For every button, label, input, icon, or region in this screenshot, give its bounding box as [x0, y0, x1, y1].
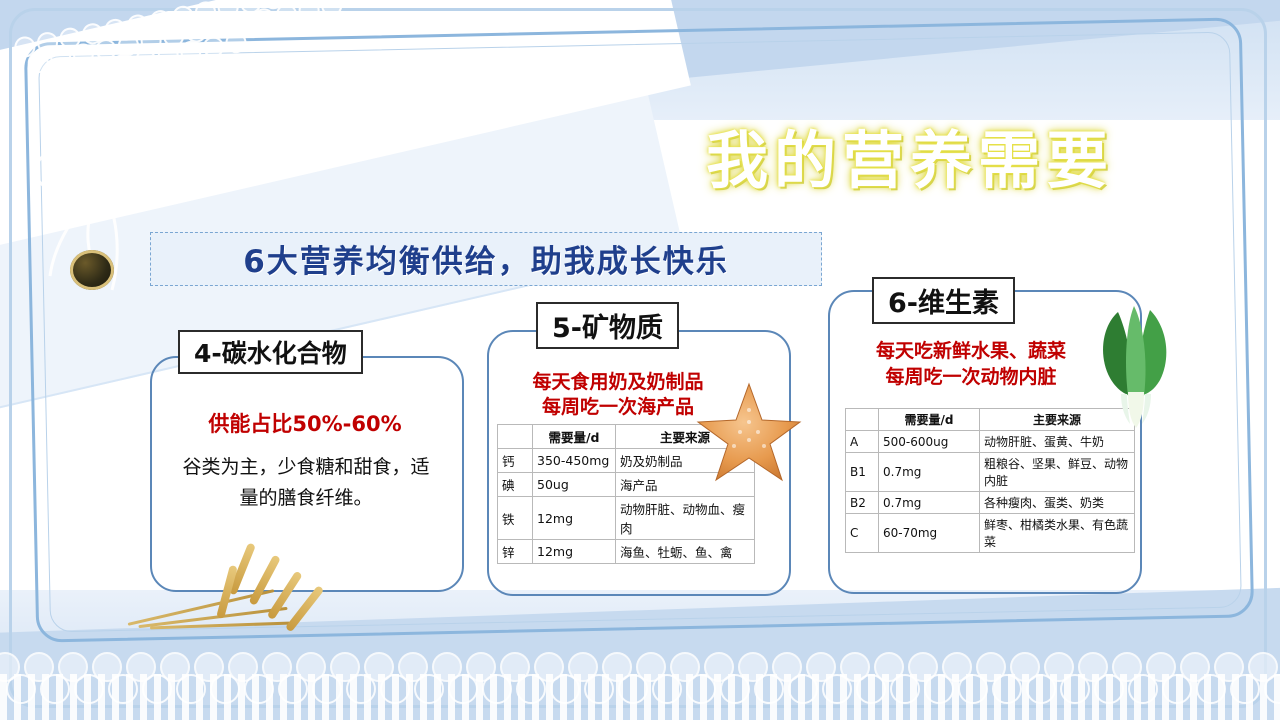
mineral-th-0 [498, 425, 533, 449]
table-row: C 60-70mg 鲜枣、柑橘类水果、有色蔬菜 [846, 514, 1135, 553]
vitamin-r3c1: 60-70mg [879, 514, 980, 553]
mineral-r2c2: 动物肝脏、动物血、瘦肉 [616, 497, 755, 540]
vitamin-th-1: 需要量/d [879, 409, 980, 431]
carbohydrate-highlight: 供能占比50%-60% [165, 408, 445, 438]
mineral-th-1: 需要量/d [533, 425, 616, 449]
seal-medallion [70, 250, 114, 290]
table-row: B2 0.7mg 各种瘦肉、蛋类、奶类 [846, 492, 1135, 514]
panel-header-mineral: 5-矿物质 [536, 302, 679, 349]
mineral-r0c1: 350-450mg [533, 449, 616, 473]
vitamin-r0c1: 500-600ug [879, 431, 980, 453]
panel-header-vitamin: 6-维生素 [872, 277, 1015, 324]
vitamin-r2c2: 各种瘦肉、蛋类、奶类 [980, 492, 1135, 514]
starfish-image [690, 380, 808, 490]
mineral-r1c0: 碘 [498, 473, 533, 497]
vitamin-r0c0: A [846, 431, 879, 453]
mineral-r2c1: 12mg [533, 497, 616, 540]
slide-canvas: 我的营养需要 6大营养均衡供给，助我成长快乐 4-碳水化合物 供能占比50%-6… [0, 0, 1280, 720]
vitamin-r0c2: 动物肝脏、蛋黄、牛奶 [980, 431, 1135, 453]
vitamin-highlight: 每天吃新鲜水果、蔬菜 每周吃一次动物内脏 [836, 338, 1106, 390]
mineral-r0c0: 钙 [498, 449, 533, 473]
vitamin-highlight-line1: 每天吃新鲜水果、蔬菜 [836, 338, 1106, 364]
wheat-ears-image [120, 520, 350, 630]
carbohydrate-body-text: 谷类为主，少食糖和甜食，适量的膳食纤维。 [176, 452, 436, 514]
vitamin-r1c1: 0.7mg [879, 453, 980, 492]
vitamin-th-0 [846, 409, 879, 431]
table-row: 铁 12mg 动物肝脏、动物血、瘦肉 [498, 497, 755, 540]
vitamin-r2c0: B2 [846, 492, 879, 514]
vitamin-r1c2: 粗粮谷、坚果、鲜豆、动物内脏 [980, 453, 1135, 492]
subtitle-text: 6大营养均衡供给，助我成长快乐 [150, 236, 822, 281]
mineral-r2c0: 铁 [498, 497, 533, 540]
bok-choy-image [1088, 300, 1184, 430]
table-row: 锌 12mg 海鱼、牡蛎、鱼、禽 [498, 540, 755, 564]
vitamin-r1c0: B1 [846, 453, 879, 492]
vitamin-r2c1: 0.7mg [879, 492, 980, 514]
table-row: B1 0.7mg 粗粮谷、坚果、鲜豆、动物内脏 [846, 453, 1135, 492]
vitamin-r3c0: C [846, 514, 879, 553]
vitamin-highlight-line2: 每周吃一次动物内脏 [836, 364, 1106, 390]
mineral-r1c1: 50ug [533, 473, 616, 497]
lace-bottom-decoration [0, 648, 1280, 720]
vitamin-r3c2: 鲜枣、柑橘类水果、有色蔬菜 [980, 514, 1135, 553]
table-row: A 500-600ug 动物肝脏、蛋黄、牛奶 [846, 431, 1135, 453]
panel-header-carbohydrate: 4-碳水化合物 [178, 330, 363, 374]
page-title: 我的营养需要 [630, 110, 1190, 200]
mineral-r3c0: 锌 [498, 540, 533, 564]
mineral-r3c1: 12mg [533, 540, 616, 564]
mineral-r3c2: 海鱼、牡蛎、鱼、禽 [616, 540, 755, 564]
